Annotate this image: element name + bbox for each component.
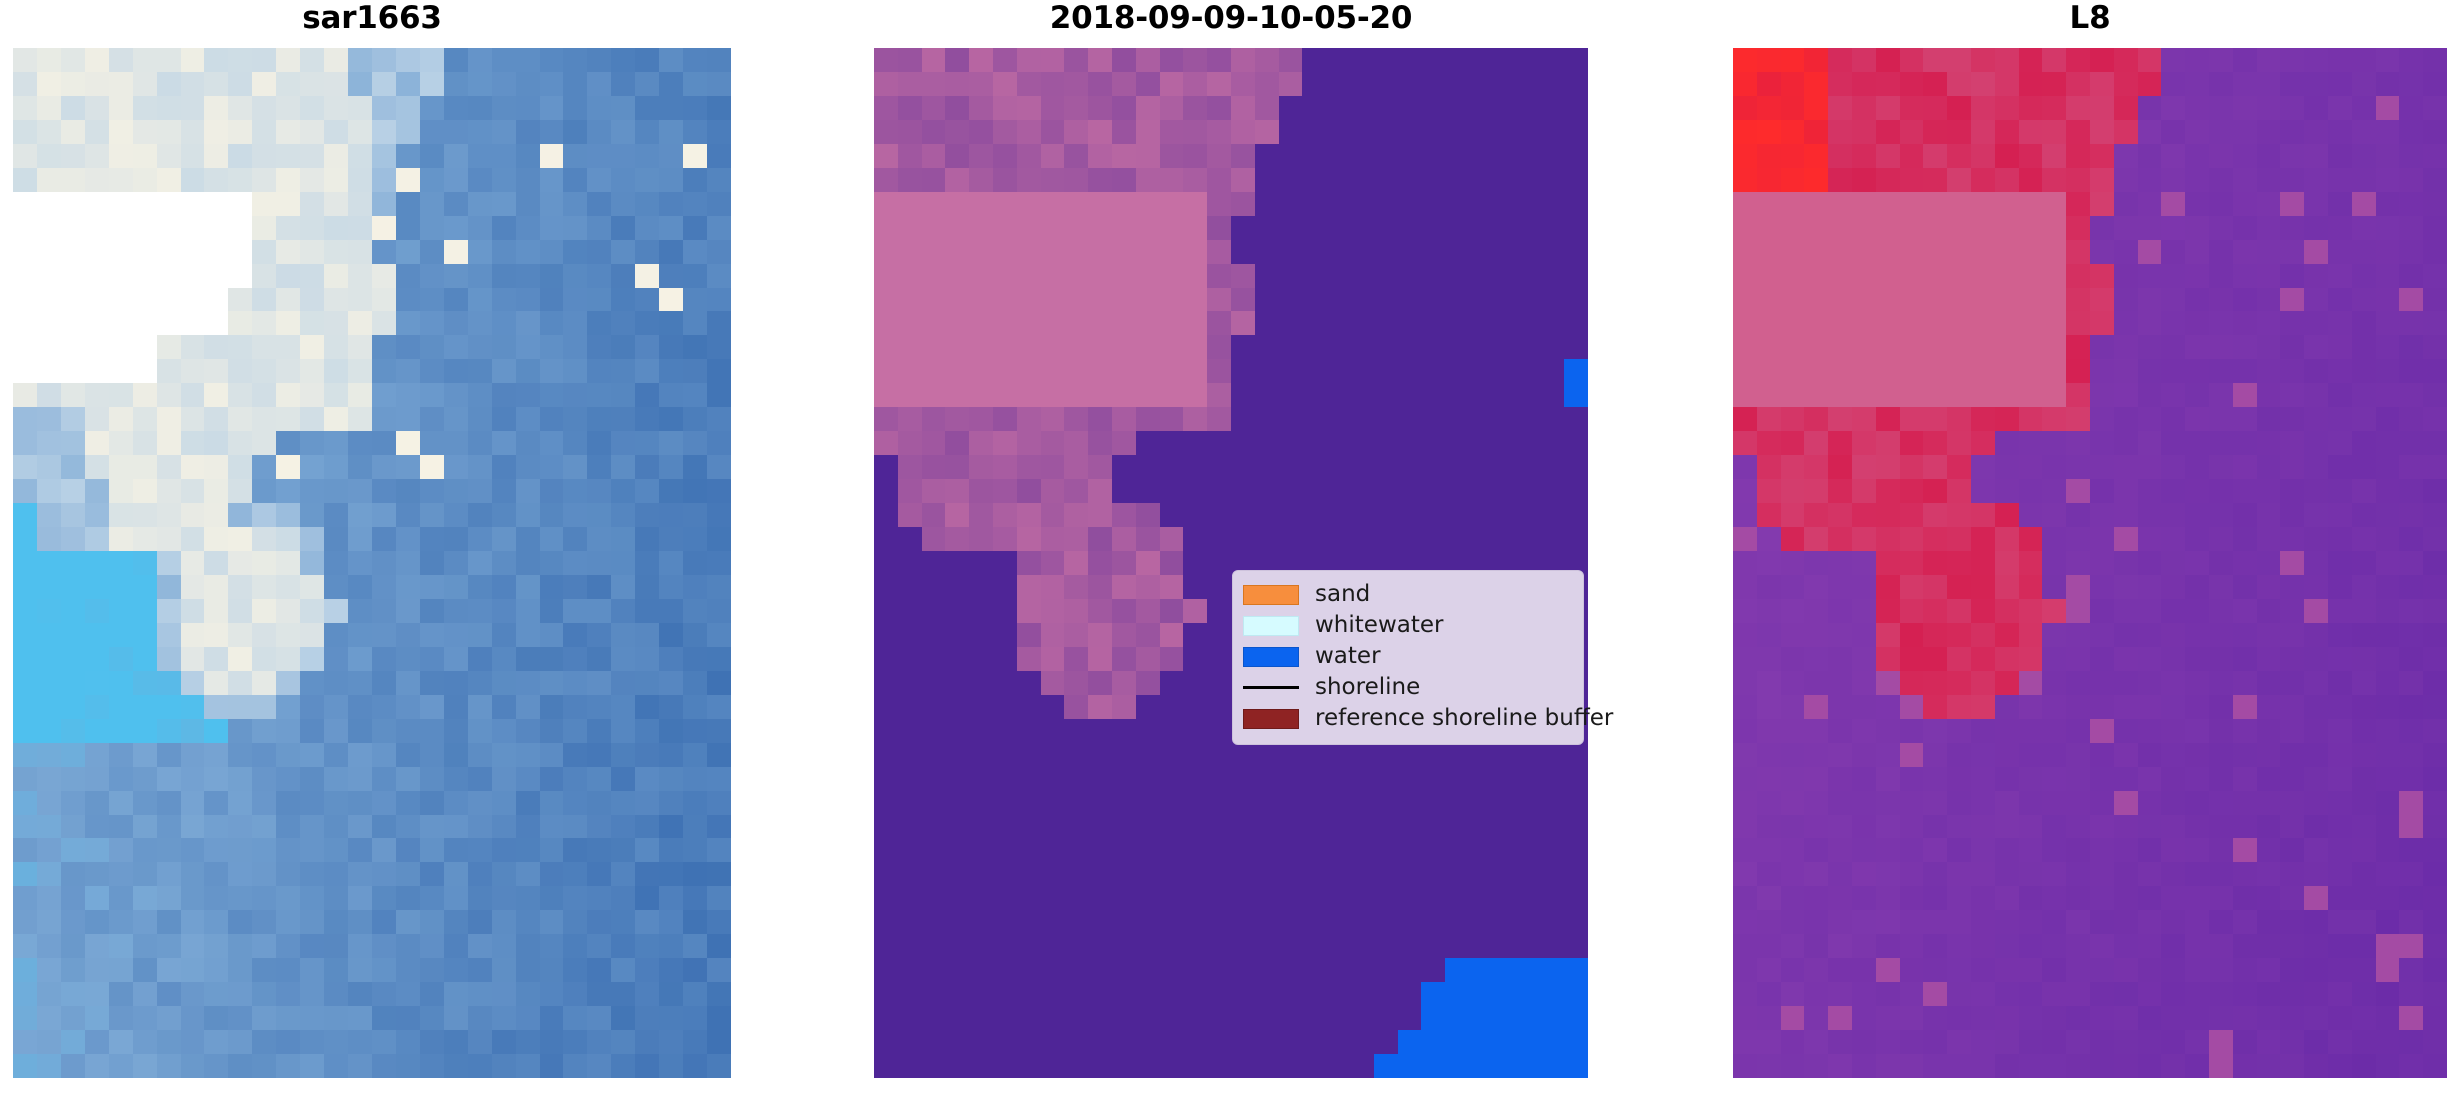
raster-cell [300,623,324,647]
raster-cell [1302,144,1326,168]
raster-cell [1064,671,1088,695]
raster-cell [1302,311,1326,335]
raster-cell [2138,192,2162,216]
raster-cell [1804,311,1828,335]
raster-cell [1088,48,1112,72]
raster-cell [1781,958,1805,982]
raster-cell [2209,72,2233,96]
raster-cell [1757,503,1781,527]
raster-cell [2280,431,2304,455]
raster-cell [1781,288,1805,312]
raster-cell [1207,120,1231,144]
raster-cell [300,958,324,982]
raster-cell [922,503,946,527]
raster-cell [2138,335,2162,359]
raster-cell [1136,695,1160,719]
raster-cell [659,311,683,335]
raster-cell [1852,120,1876,144]
raster-cell [874,335,898,359]
raster-cell [2328,240,2352,264]
raster-cell [1493,743,1517,767]
raster-cell [324,431,348,455]
raster-cell [157,264,181,288]
raster-cell [1971,862,1995,886]
raster-cell [2042,48,2066,72]
raster-cell [898,335,922,359]
raster-cell [2209,335,2233,359]
raster-cell [1493,767,1517,791]
raster-cell [969,72,993,96]
raster-cell [2376,1030,2400,1054]
raster-cell [2209,551,2233,575]
raster-cell [157,551,181,575]
raster-cell [324,503,348,527]
raster-cell [1493,1030,1517,1054]
raster-cell [1733,359,1757,383]
raster-cell [1398,144,1422,168]
raster-cell [1088,647,1112,671]
raster-cell [372,934,396,958]
raster-cell [109,168,133,192]
raster-cell [2114,72,2138,96]
raster-cell [1995,910,2019,934]
raster-cell [37,168,61,192]
raster-cell [2328,1006,2352,1030]
raster-cell [1041,982,1065,1006]
raster-cell [1493,934,1517,958]
raster-cell [1781,647,1805,671]
raster-cell [1302,1054,1326,1078]
raster-cell [444,886,468,910]
raster-cell [1041,862,1065,886]
raster-cell [372,383,396,407]
raster-cell [252,407,276,431]
raster-cell [1207,72,1231,96]
raster-cell [109,934,133,958]
raster-cell [444,1030,468,1054]
raster-cell [1421,958,1445,982]
raster-cell [1374,1006,1398,1030]
raster-cell [1041,599,1065,623]
raster-cell [276,1030,300,1054]
raster-cell [348,910,372,934]
raster-cell [2185,838,2209,862]
raster-cell [945,551,969,575]
raster-cell [516,862,540,886]
raster-cell [2019,695,2043,719]
raster-cell [1781,216,1805,240]
raster-cell [13,910,37,934]
raster-cell [37,96,61,120]
raster-cell [1017,647,1041,671]
raster-cell [1804,1054,1828,1078]
raster-cell [1971,72,1995,96]
raster-cell [1183,1030,1207,1054]
raster-cell [1828,1054,1852,1078]
raster-cell [2161,96,2185,120]
raster-cell [85,910,109,934]
raster-cell [276,264,300,288]
raster-cell [1302,264,1326,288]
raster-cell [1852,479,1876,503]
raster-cell [1041,288,1065,312]
raster-cell [444,144,468,168]
raster-cell [1876,192,1900,216]
raster-cell [85,216,109,240]
raster-cell [1207,1006,1231,1030]
raster-cell [563,359,587,383]
raster-cell [1517,527,1541,551]
raster-cell [611,168,635,192]
raster-cell [587,168,611,192]
raster-cell [1160,192,1184,216]
raster-cell [2399,359,2423,383]
raster-cell [2042,886,2066,910]
raster-cell [2138,862,2162,886]
raster-cell [85,168,109,192]
raster-cell [683,1030,707,1054]
raster-cell [1088,383,1112,407]
raster-cell [1781,1006,1805,1030]
raster-cell [133,503,157,527]
raster-cell [922,431,946,455]
raster-cell [1017,96,1041,120]
raster-cell [396,815,420,839]
raster-cell [181,311,205,335]
raster-cell [444,743,468,767]
raster-cell [969,791,993,815]
raster-cell [945,958,969,982]
raster-cell [1517,407,1541,431]
raster-cell [2042,216,2066,240]
raster-cell [635,72,659,96]
raster-cell [2019,527,2043,551]
raster-cell [1995,240,2019,264]
raster-cell [444,815,468,839]
raster-cell [2161,383,2185,407]
raster-cell [181,910,205,934]
raster-cell [2114,527,2138,551]
raster-cell [2090,383,2114,407]
raster-cell [61,647,85,671]
raster-cell [1160,934,1184,958]
raster-cell [1828,719,1852,743]
raster-cell [1781,240,1805,264]
raster-cell [324,886,348,910]
raster-cell [1398,288,1422,312]
raster-cell [492,671,516,695]
raster-cell [2185,48,2209,72]
raster-cell [492,767,516,791]
legend-swatch-icon [1243,585,1299,605]
raster-cell [2161,479,2185,503]
raster-cell [372,455,396,479]
raster-cell [1493,359,1517,383]
raster-cell [635,264,659,288]
raster-cell [61,599,85,623]
raster-cell [1804,623,1828,647]
raster-cell [2352,383,2376,407]
raster-cell [444,862,468,886]
raster-cell [324,575,348,599]
raster-cell [396,1030,420,1054]
raster-cell [1136,96,1160,120]
raster-cell [2209,934,2233,958]
raster-cell [1421,335,1445,359]
raster-cell [635,96,659,120]
raster-cell [324,623,348,647]
raster-cell [2019,599,2043,623]
raster-cell [1112,192,1136,216]
raster-cell [1517,288,1541,312]
raster-cell [683,719,707,743]
raster-cell [1279,886,1303,910]
raster-cell [993,551,1017,575]
raster-cell [1112,982,1136,1006]
raster-cell [396,455,420,479]
raster-cell [228,335,252,359]
raster-cell [1517,96,1541,120]
raster-cell [563,838,587,862]
raster-cell [1136,623,1160,647]
raster-cell [563,647,587,671]
raster-cell [1207,815,1231,839]
raster-cell [659,144,683,168]
raster-cell [1421,288,1445,312]
raster-cell [1207,383,1231,407]
raster-cell [396,623,420,647]
raster-cell [1971,311,1995,335]
raster-cell [85,575,109,599]
raster-cell [2423,311,2447,335]
raster-cell [1828,767,1852,791]
raster-cell [324,767,348,791]
raster-cell [874,551,898,575]
raster-cell [2423,455,2447,479]
raster-cell [1733,288,1757,312]
raster-cell [2423,335,2447,359]
raster-cell [2352,240,2376,264]
raster-cell [945,910,969,934]
raster-cell [874,791,898,815]
raster-cell [1398,934,1422,958]
raster-cell [1112,311,1136,335]
raster-cell [2257,120,2281,144]
raster-cell [1421,503,1445,527]
raster-cell [611,527,635,551]
raster-cell [2066,144,2090,168]
raster-cell [1231,120,1255,144]
raster-cell [157,120,181,144]
raster-cell [85,383,109,407]
raster-cell [2090,838,2114,862]
raster-cell [1112,1006,1136,1030]
raster-cell [2304,958,2328,982]
raster-cell [1900,982,1924,1006]
raster-cell [563,695,587,719]
raster-cell [2328,838,2352,862]
raster-cell [922,264,946,288]
raster-cell [969,575,993,599]
raster-cell [1398,1030,1422,1054]
raster-cell [1517,192,1541,216]
raster-cell [2304,743,2328,767]
raster-cell [2399,791,2423,815]
raster-cell [587,144,611,168]
raster-cell [468,1006,492,1030]
raster-cell [1564,982,1588,1006]
raster-cell [1852,335,1876,359]
raster-cell [13,1006,37,1030]
raster-cell [1398,192,1422,216]
raster-cell [683,815,707,839]
raster-cell [1804,407,1828,431]
raster-cell [2090,168,2114,192]
raster-cell [1900,815,1924,839]
raster-cell [2352,407,2376,431]
raster-cell [611,575,635,599]
raster-cell [181,288,205,312]
raster-cell [109,311,133,335]
raster-cell [204,431,228,455]
raster-cell [157,96,181,120]
raster-cell [252,815,276,839]
raster-cell [683,791,707,815]
raster-cell [2066,791,2090,815]
raster-cell [1041,240,1065,264]
raster-cell [1971,575,1995,599]
raster-cell [563,527,587,551]
raster-cell [2257,910,2281,934]
raster-cell [1540,743,1564,767]
raster-cell [109,383,133,407]
raster-cell [2376,407,2400,431]
raster-cell [348,886,372,910]
raster-cell [1398,862,1422,886]
raster-cell [2138,910,2162,934]
raster-cell [2066,743,2090,767]
raster-cell [324,671,348,695]
raster-cell [1828,407,1852,431]
raster-cell [2280,96,2304,120]
raster-cell [1900,192,1924,216]
raster-cell [1828,240,1852,264]
raster-cell [1421,72,1445,96]
raster-cell [563,958,587,982]
raster-cell [2138,240,2162,264]
raster-cell [85,815,109,839]
raster-cell [1136,1006,1160,1030]
raster-cell [2423,503,2447,527]
raster-cell [1540,1054,1564,1078]
raster-cell [2042,192,2066,216]
raster-cell [2280,455,2304,479]
raster-cell [1231,168,1255,192]
raster-cell [540,671,564,695]
raster-cell [1398,503,1422,527]
raster-cell [228,1030,252,1054]
raster-cell [1852,575,1876,599]
raster-cell [2090,910,2114,934]
raster-cell [2019,934,2043,958]
raster-cell [1302,359,1326,383]
raster-cell [1469,383,1493,407]
raster-cell [707,407,731,431]
raster-cell [133,431,157,455]
raster-cell [2066,982,2090,1006]
raster-cell [1374,359,1398,383]
raster-cell [324,359,348,383]
raster-cell [181,216,205,240]
raster-cell [444,264,468,288]
raster-cell [659,623,683,647]
raster-cell [611,1006,635,1030]
raster-cell [1041,144,1065,168]
raster-cell [1207,910,1231,934]
raster-cell [2042,120,2066,144]
raster-cell [276,479,300,503]
raster-cell [348,527,372,551]
raster-cell [587,599,611,623]
raster-cell [2161,1030,2185,1054]
raster-cell [2138,1054,2162,1078]
raster-cell [1540,958,1564,982]
raster-cell [2185,791,2209,815]
raster-cell [1112,383,1136,407]
raster-cell [2042,838,2066,862]
raster-cell [2328,96,2352,120]
raster-cell [922,479,946,503]
raster-cell [1183,479,1207,503]
raster-cell [1421,48,1445,72]
raster-cell [1900,479,1924,503]
raster-cell [372,431,396,455]
raster-cell [348,767,372,791]
raster-cell [587,192,611,216]
raster-cell [372,359,396,383]
raster-cell [1947,671,1971,695]
raster-cell [683,862,707,886]
raster-cell [2233,862,2257,886]
raster-cell [898,958,922,982]
raster-cell [1852,934,1876,958]
raster-cell [109,862,133,886]
raster-cell [659,431,683,455]
raster-cell [2328,815,2352,839]
raster-cell [1183,96,1207,120]
raster-cell [2019,120,2043,144]
raster-cell [611,72,635,96]
raster-cell [1804,982,1828,1006]
raster-cell [563,671,587,695]
raster-cell [2066,192,2090,216]
raster-cell [157,48,181,72]
raster-cell [2090,311,2114,335]
raster-cell [1540,431,1564,455]
raster-cell [61,671,85,695]
raster-cell [2352,311,2376,335]
raster-cell [659,934,683,958]
raster-cell [945,216,969,240]
raster-cell [2352,527,2376,551]
raster-cell [2090,767,2114,791]
raster-cell [492,982,516,1006]
raster-cell [1757,551,1781,575]
raster-cell [1350,910,1374,934]
raster-cell [1900,527,1924,551]
raster-cell [1207,958,1231,982]
raster-cell [228,431,252,455]
